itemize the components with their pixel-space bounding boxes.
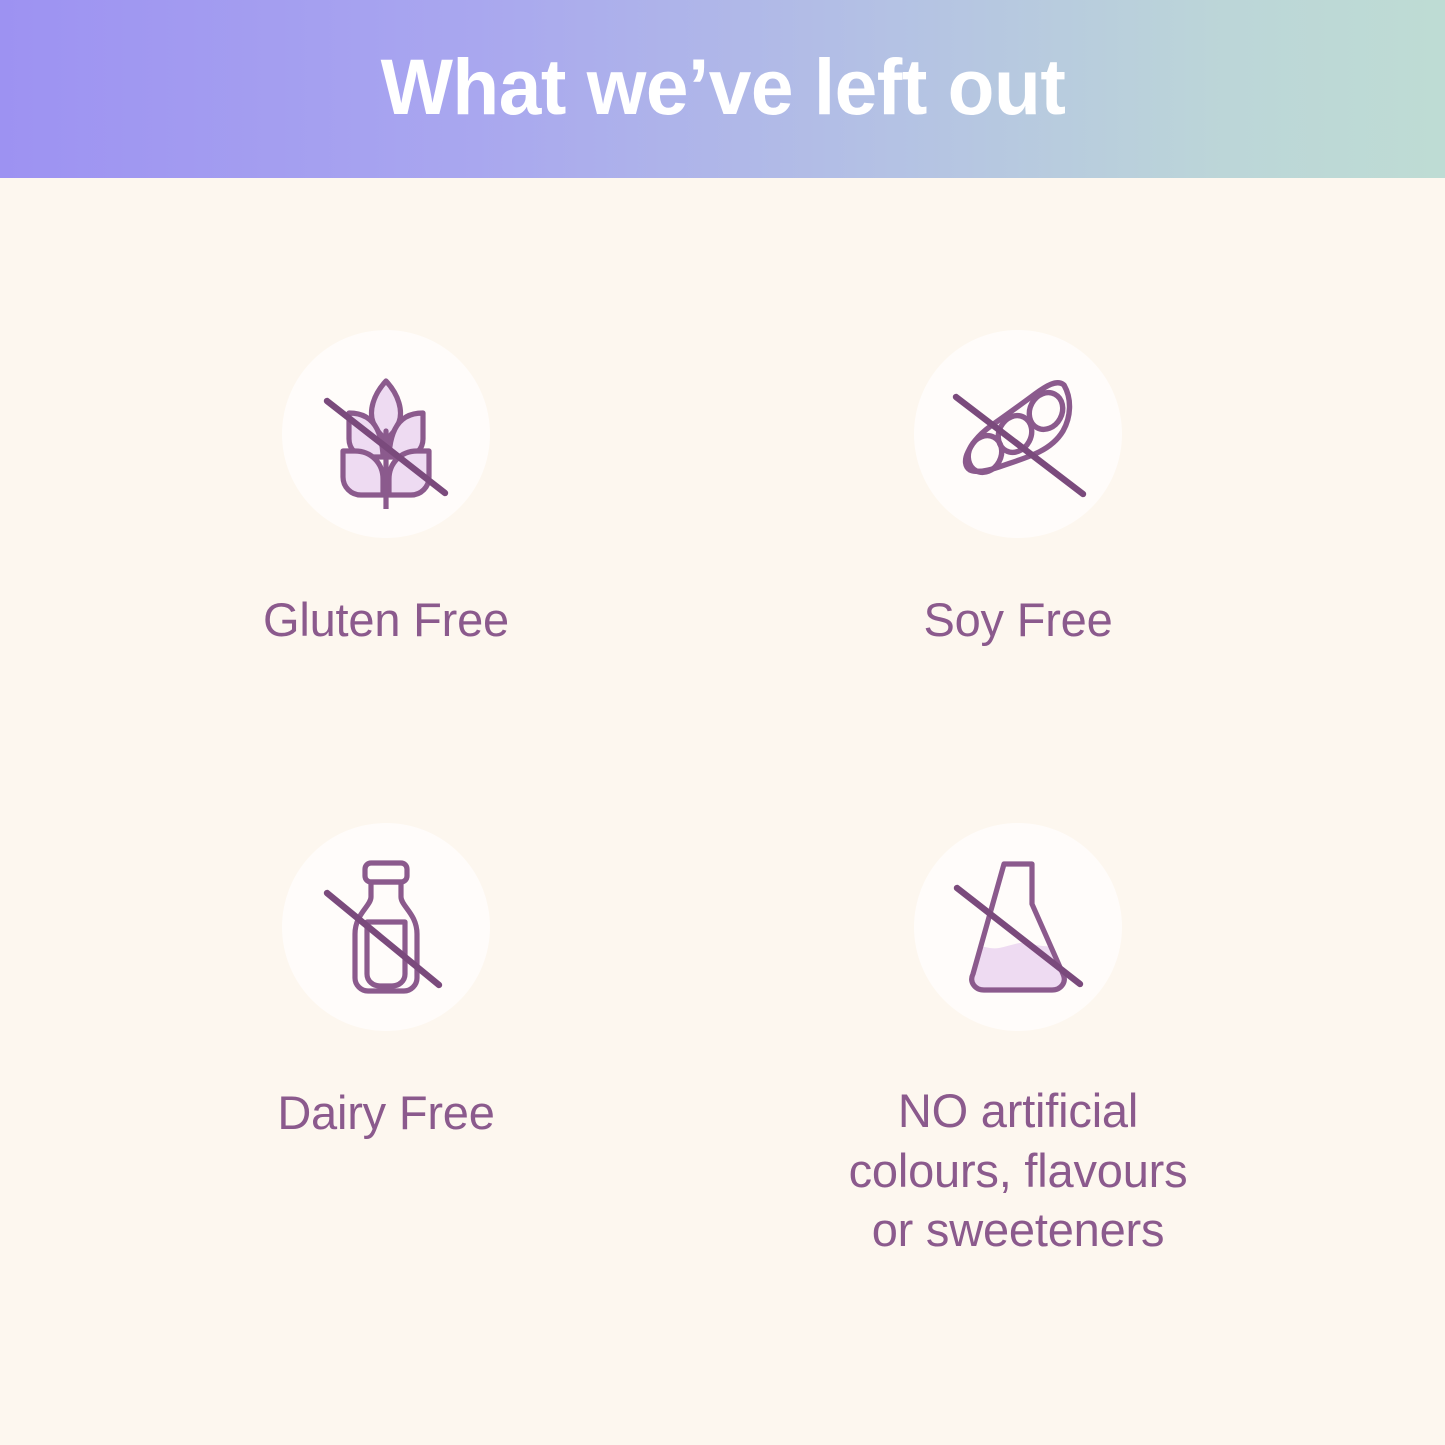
feature-dairy-free: Dairy Free — [66, 823, 706, 1143]
feature-gluten-free: Gluten Free — [66, 330, 706, 650]
icon-circle — [282, 330, 490, 538]
feature-label: Gluten Free — [263, 590, 509, 650]
feature-label: NO artificial colours, flavours or sweet… — [849, 1081, 1188, 1260]
page-title: What we’ve left out — [380, 47, 1065, 132]
feature-no-artificial: NO artificial colours, flavours or sweet… — [698, 823, 1338, 1260]
icon-circle — [282, 823, 490, 1031]
icon-circle — [914, 330, 1122, 538]
no-soy-icon — [943, 359, 1093, 509]
no-milk-bottle-icon — [311, 852, 461, 1002]
infographic-page: What we’ve left out — [0, 0, 1445, 1445]
no-flask-icon — [943, 852, 1093, 1002]
feature-label: Dairy Free — [277, 1083, 494, 1143]
header-band: What we’ve left out — [0, 0, 1445, 178]
feature-grid: Gluten Free — [0, 178, 1445, 1445]
no-wheat-icon — [311, 359, 461, 509]
feature-soy-free: Soy Free — [698, 330, 1338, 650]
feature-label: Soy Free — [923, 590, 1112, 650]
icon-circle — [914, 823, 1122, 1031]
